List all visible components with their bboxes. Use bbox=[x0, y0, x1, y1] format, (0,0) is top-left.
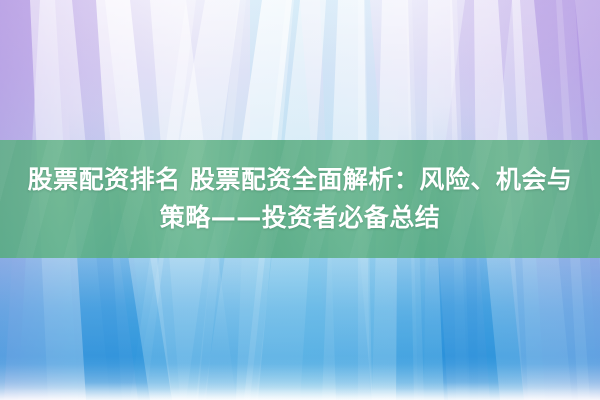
banner-image: 股票配资排名 股票配资全面解析：风险、机会与 策略——投资者必备总结 bbox=[0, 0, 600, 400]
title-band: 股票配资排名 股票配资全面解析：风险、机会与 策略——投资者必备总结 bbox=[0, 140, 600, 258]
banner-title-line-2: 策略——投资者必备总结 bbox=[160, 199, 441, 237]
banner-title-line-1: 股票配资排名 股票配资全面解析：风险、机会与 bbox=[28, 161, 573, 199]
